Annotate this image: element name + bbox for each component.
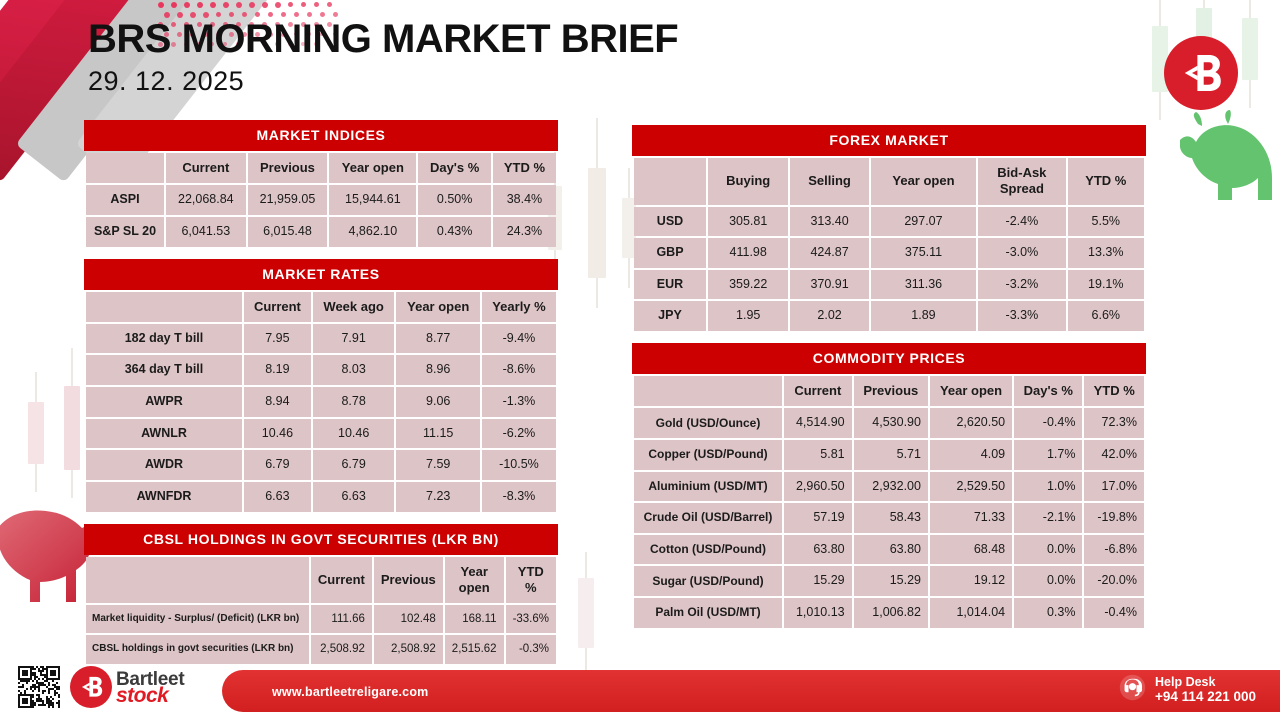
- cell-value: 68.48: [930, 535, 1012, 565]
- cell-value: 1,014.04: [930, 598, 1012, 628]
- cell-value: -2.1%: [1014, 503, 1082, 533]
- row-label: Palm Oil (USD/MT): [634, 598, 782, 628]
- cell-value: 11.15: [396, 419, 479, 449]
- cell-value: 311.36: [871, 270, 976, 300]
- cell-value: 4,530.90: [854, 408, 928, 438]
- column-header: Year open: [396, 292, 479, 322]
- cell-value: 24.3%: [493, 217, 556, 247]
- cell-value: -0.4%: [1084, 598, 1144, 628]
- column-header: [634, 376, 782, 406]
- row-label: EUR: [634, 270, 706, 300]
- column-header: Previous: [854, 376, 928, 406]
- cell-value: 4,514.90: [784, 408, 852, 438]
- column-header: [86, 153, 164, 183]
- cell-value: -8.6%: [482, 355, 556, 385]
- panel-cbsl-holdings: CBSL HOLDINGS IN GOVT SECURITIES (LKR BN…: [84, 524, 558, 666]
- cell-value: 359.22: [708, 270, 788, 300]
- cell-value: 4,862.10: [329, 217, 416, 247]
- table-row: 364 day T bill8.198.038.96-8.6%: [86, 355, 556, 385]
- website-link[interactable]: www.bartleetreligare.com: [272, 685, 428, 699]
- cell-value: 1.7%: [1014, 440, 1082, 470]
- panel-title-cbsl-holdings: CBSL HOLDINGS IN GOVT SECURITIES (LKR BN…: [84, 524, 558, 555]
- headset-icon: [1119, 674, 1146, 706]
- cell-value: 8.78: [313, 387, 395, 417]
- panel-title-market-indices: MARKET INDICES: [84, 120, 558, 151]
- candlestick-watermark: [64, 348, 80, 498]
- panel-title-forex-market: FOREX MARKET: [632, 125, 1146, 156]
- bartleet-logo-icon: [70, 666, 112, 708]
- cell-value: 1.0%: [1014, 472, 1082, 502]
- row-label: Market liquidity - Surplus/ (Deficit) (L…: [86, 605, 309, 633]
- cell-value: 5.81: [784, 440, 852, 470]
- column-header: Current: [166, 153, 246, 183]
- column-header: Year open: [329, 153, 416, 183]
- column-header: [86, 557, 309, 604]
- cell-value: 1.89: [871, 301, 976, 331]
- cell-value: 2,620.50: [930, 408, 1012, 438]
- column-header: Current: [784, 376, 852, 406]
- help-desk-block[interactable]: Help Desk +94 114 221 000: [1119, 674, 1256, 706]
- cell-value: 8.94: [244, 387, 311, 417]
- bull-silhouette-icon: [1172, 108, 1280, 200]
- cell-value: 15.29: [854, 566, 928, 596]
- brand-logo-badge: [1164, 36, 1238, 110]
- candlestick-watermark: [578, 552, 594, 672]
- cell-value: 375.11: [871, 238, 976, 268]
- table-row: GBP411.98424.87375.11-3.0%13.3%: [634, 238, 1144, 268]
- cell-value: 5.71: [854, 440, 928, 470]
- table-row: USD305.81313.40297.07-2.4%5.5%: [634, 207, 1144, 237]
- row-label: S&P SL 20: [86, 217, 164, 247]
- cell-value: -10.5%: [482, 450, 556, 480]
- table-row: EUR359.22370.91311.36-3.2%19.1%: [634, 270, 1144, 300]
- cell-value: -3.3%: [978, 301, 1065, 331]
- table-row: Crude Oil (USD/Barrel)57.1958.4371.33-2.…: [634, 503, 1144, 533]
- cell-value: 6.79: [313, 450, 395, 480]
- cell-value: 21,959.05: [248, 185, 328, 215]
- cell-value: 7.95: [244, 324, 311, 354]
- table-row: JPY1.952.021.89-3.3%6.6%: [634, 301, 1144, 331]
- table-header-row: Current Week ago Year open Yearly %: [86, 292, 556, 322]
- cell-value: 58.43: [854, 503, 928, 533]
- candlestick-watermark: [1242, 0, 1258, 108]
- row-label: JPY: [634, 301, 706, 331]
- cell-value: 411.98: [708, 238, 788, 268]
- cell-value: -20.0%: [1084, 566, 1144, 596]
- left-column: MARKET INDICES Current Previous Year ope…: [84, 120, 558, 676]
- cell-value: 63.80: [784, 535, 852, 565]
- row-label: AWNLR: [86, 419, 242, 449]
- page-footer: Bartleet stock www.bartleetreligare.com …: [0, 658, 1280, 720]
- column-header: Selling: [790, 158, 868, 205]
- cell-value: 10.46: [313, 419, 395, 449]
- cell-value: 0.0%: [1014, 566, 1082, 596]
- cell-value: 13.3%: [1068, 238, 1144, 268]
- cell-value: 2,960.50: [784, 472, 852, 502]
- cell-value: 38.4%: [493, 185, 556, 215]
- cell-value: 2,932.00: [854, 472, 928, 502]
- row-label: AWPR: [86, 387, 242, 417]
- cell-value: 7.59: [396, 450, 479, 480]
- panel-title-commodity-prices: COMMODITY PRICES: [632, 343, 1146, 374]
- column-header: Current: [244, 292, 311, 322]
- table-header-row: Current Previous Year open YTD %: [86, 557, 556, 604]
- candlestick-watermark: [28, 372, 44, 492]
- cell-value: 0.3%: [1014, 598, 1082, 628]
- column-header: Yearly %: [482, 292, 556, 322]
- cell-value: 0.0%: [1014, 535, 1082, 565]
- column-header: [634, 158, 706, 205]
- cell-value: 305.81: [708, 207, 788, 237]
- bid-ask-line1: Bid-Ask: [997, 165, 1046, 180]
- column-header: Current: [311, 557, 372, 604]
- cell-value: -0.4%: [1014, 408, 1082, 438]
- row-label: Copper (USD/Pound): [634, 440, 782, 470]
- cell-value: -6.8%: [1084, 535, 1144, 565]
- cell-value: 6,015.48: [248, 217, 328, 247]
- row-label: GBP: [634, 238, 706, 268]
- cell-value: 19.1%: [1068, 270, 1144, 300]
- table-header-row: Buying Selling Year open Bid-Ask Spread …: [634, 158, 1144, 205]
- row-label: USD: [634, 207, 706, 237]
- table-row: ASPI 22,068.84 21,959.05 15,944.61 0.50%…: [86, 185, 556, 215]
- cell-value: 8.96: [396, 355, 479, 385]
- cell-value: 2.02: [790, 301, 868, 331]
- cell-value: -8.3%: [482, 482, 556, 512]
- table-market-rates: Current Week ago Year open Yearly % 182 …: [84, 290, 558, 514]
- panel-forex-market: FOREX MARKET Buying Selling Year open Bi…: [632, 125, 1146, 333]
- table-row: Market liquidity - Surplus/ (Deficit) (L…: [86, 605, 556, 633]
- column-header: Year open: [930, 376, 1012, 406]
- cell-value: 1.95: [708, 301, 788, 331]
- table-forex-market: Buying Selling Year open Bid-Ask Spread …: [632, 156, 1146, 333]
- table-header-row: Current Previous Year open Day's % YTD %: [634, 376, 1144, 406]
- table-cbsl-holdings: Current Previous Year open YTD % Market …: [84, 555, 558, 666]
- column-header-bid-ask-spread: Bid-Ask Spread: [978, 158, 1065, 205]
- cell-value: 63.80: [854, 535, 928, 565]
- column-header: Day's %: [418, 153, 490, 183]
- table-row: AWPR8.948.789.06-1.3%: [86, 387, 556, 417]
- help-desk-text: Help Desk +94 114 221 000: [1155, 675, 1256, 705]
- cell-value: 9.06: [396, 387, 479, 417]
- panel-title-market-rates: MARKET RATES: [84, 259, 558, 290]
- column-header: YTD %: [493, 153, 556, 183]
- cell-value: 0.43%: [418, 217, 490, 247]
- row-label: Sugar (USD/Pound): [634, 566, 782, 596]
- page-title: BRS MORNING MARKET BRIEF: [88, 18, 678, 60]
- row-label: 182 day T bill: [86, 324, 242, 354]
- page-header: BRS MORNING MARKET BRIEF 29. 12. 2025: [88, 18, 678, 97]
- column-header: Week ago: [313, 292, 395, 322]
- cell-value: 15.29: [784, 566, 852, 596]
- table-commodity-prices: Current Previous Year open Day's % YTD %…: [632, 374, 1146, 630]
- row-label: 364 day T bill: [86, 355, 242, 385]
- candlestick-watermark: [588, 118, 606, 308]
- table-row: Copper (USD/Pound)5.815.714.091.7%42.0%: [634, 440, 1144, 470]
- cell-value: 7.91: [313, 324, 395, 354]
- cell-value: -6.2%: [482, 419, 556, 449]
- cell-value: 72.3%: [1084, 408, 1144, 438]
- cell-value: -1.3%: [482, 387, 556, 417]
- cell-value: 8.77: [396, 324, 479, 354]
- cell-value: 8.19: [244, 355, 311, 385]
- cell-value: -2.4%: [978, 207, 1065, 237]
- cell-value: -19.8%: [1084, 503, 1144, 533]
- cell-value: 1,006.82: [854, 598, 928, 628]
- table-row: AWNFDR6.636.637.23-8.3%: [86, 482, 556, 512]
- cell-value: 71.33: [930, 503, 1012, 533]
- table-row: Palm Oil (USD/MT)1,010.131,006.821,014.0…: [634, 598, 1144, 628]
- column-header: YTD %: [506, 557, 556, 604]
- table-header-row: Current Previous Year open Day's % YTD %: [86, 153, 556, 183]
- cell-value: 111.66: [311, 605, 372, 633]
- cell-value: -3.0%: [978, 238, 1065, 268]
- table-market-indices: Current Previous Year open Day's % YTD %…: [84, 151, 558, 249]
- cell-value: 17.0%: [1084, 472, 1144, 502]
- cell-value: 370.91: [790, 270, 868, 300]
- row-label: ASPI: [86, 185, 164, 215]
- panel-commodity-prices: COMMODITY PRICES Current Previous Year o…: [632, 343, 1146, 630]
- table-row: S&P SL 20 6,041.53 6,015.48 4,862.10 0.4…: [86, 217, 556, 247]
- row-label: Cotton (USD/Pound): [634, 535, 782, 565]
- help-desk-phone: +94 114 221 000: [1155, 689, 1256, 705]
- table-row: Sugar (USD/Pound)15.2915.2919.120.0%-20.…: [634, 566, 1144, 596]
- cell-value: -33.6%: [506, 605, 556, 633]
- column-header: [86, 292, 242, 322]
- table-row: AWDR6.796.797.59-10.5%: [86, 450, 556, 480]
- cell-value: 5.5%: [1068, 207, 1144, 237]
- cell-value: 6,041.53: [166, 217, 246, 247]
- bartleet-stock-wordmark[interactable]: Bartleet stock: [116, 670, 184, 706]
- table-row: AWNLR10.4610.4611.15-6.2%: [86, 419, 556, 449]
- cell-value: 102.48: [374, 605, 443, 633]
- cell-value: 8.03: [313, 355, 395, 385]
- cell-value: -9.4%: [482, 324, 556, 354]
- table-row: Aluminium (USD/MT)2,960.502,932.002,529.…: [634, 472, 1144, 502]
- bid-ask-line2: Spread: [1000, 181, 1044, 196]
- cell-value: 57.19: [784, 503, 852, 533]
- cell-value: 2,529.50: [930, 472, 1012, 502]
- column-header: Year open: [871, 158, 976, 205]
- row-label: AWNFDR: [86, 482, 242, 512]
- cell-value: 15,944.61: [329, 185, 416, 215]
- right-column: FOREX MARKET Buying Selling Year open Bi…: [632, 125, 1146, 640]
- column-header: YTD %: [1084, 376, 1144, 406]
- row-label: AWDR: [86, 450, 242, 480]
- cell-value: 1,010.13: [784, 598, 852, 628]
- table-row: 182 day T bill7.957.918.77-9.4%: [86, 324, 556, 354]
- cell-value: 19.12: [930, 566, 1012, 596]
- column-header: Buying: [708, 158, 788, 205]
- panel-market-indices: MARKET INDICES Current Previous Year ope…: [84, 120, 558, 249]
- qr-code-icon: [18, 666, 60, 708]
- row-label: Aluminium (USD/MT): [634, 472, 782, 502]
- cell-value: 42.0%: [1084, 440, 1144, 470]
- cell-value: 424.87: [790, 238, 868, 268]
- cell-value: 313.40: [790, 207, 868, 237]
- panel-market-rates: MARKET RATES Current Week ago Year open …: [84, 259, 558, 514]
- table-row: Gold (USD/Ounce)4,514.904,530.902,620.50…: [634, 408, 1144, 438]
- cell-value: 6.63: [244, 482, 311, 512]
- cell-value: 7.23: [396, 482, 479, 512]
- column-header: YTD %: [1068, 158, 1144, 205]
- cell-value: 22,068.84: [166, 185, 246, 215]
- report-date: 29. 12. 2025: [88, 66, 678, 97]
- cell-value: 0.50%: [418, 185, 490, 215]
- cell-value: 6.6%: [1068, 301, 1144, 331]
- column-header: Previous: [248, 153, 328, 183]
- cell-value: 297.07: [871, 207, 976, 237]
- help-desk-label: Help Desk: [1155, 675, 1256, 689]
- row-label: Crude Oil (USD/Barrel): [634, 503, 782, 533]
- cell-value: 4.09: [930, 440, 1012, 470]
- cell-value: 168.11: [445, 605, 504, 633]
- row-label: Gold (USD/Ounce): [634, 408, 782, 438]
- cell-value: 10.46: [244, 419, 311, 449]
- cell-value: 6.63: [313, 482, 395, 512]
- column-header: Year open: [445, 557, 504, 604]
- cell-value: -3.2%: [978, 270, 1065, 300]
- column-header: Previous: [374, 557, 443, 604]
- table-row: Cotton (USD/Pound)63.8063.8068.480.0%-6.…: [634, 535, 1144, 565]
- cell-value: 6.79: [244, 450, 311, 480]
- column-header: Day's %: [1014, 376, 1082, 406]
